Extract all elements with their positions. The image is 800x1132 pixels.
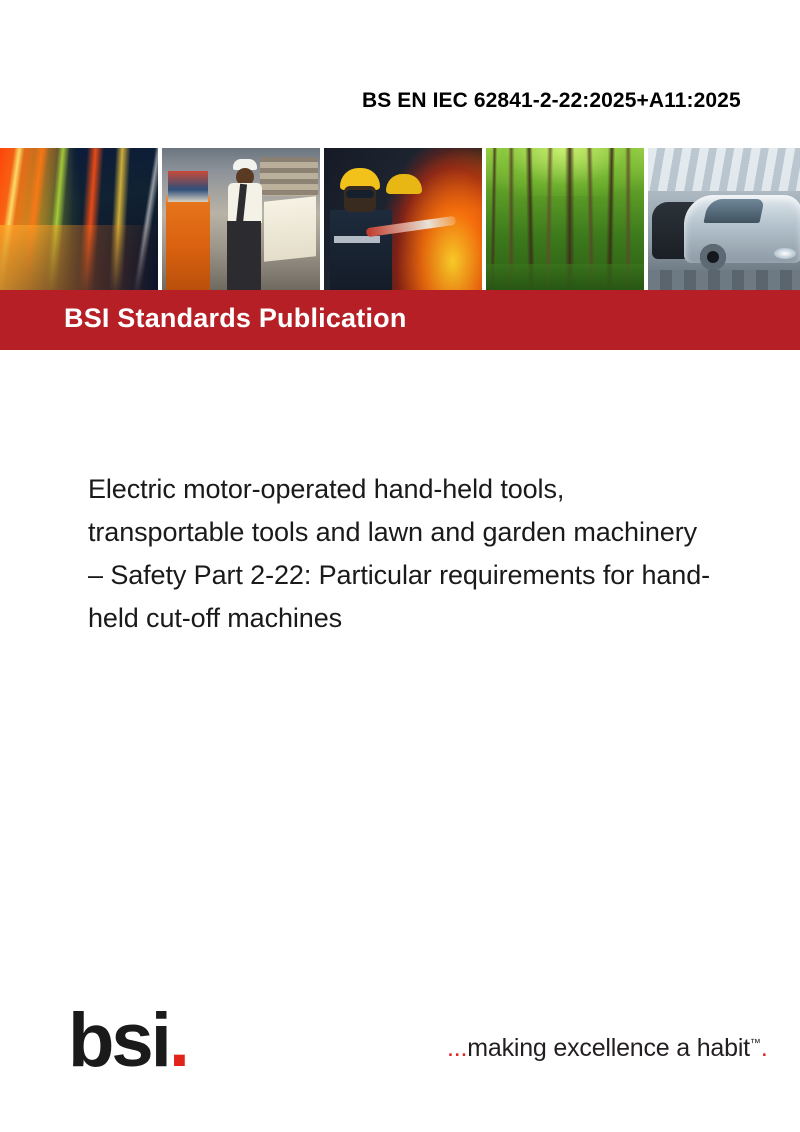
- tagline-ellipsis: ...: [447, 1034, 467, 1062]
- bsi-logo: bsi.: [68, 1003, 187, 1069]
- warehouse-worker-photo: [162, 148, 320, 290]
- document-title: Electric motor-operated hand-held tools,…: [88, 468, 712, 640]
- bsi-standards-publication-band: BSI Standards Publication: [0, 290, 800, 350]
- tagline-period: .: [761, 1034, 768, 1062]
- publication-band-label: BSI Standards Publication: [64, 305, 407, 332]
- forest-photo: [486, 148, 644, 290]
- night-light-trails-photo: [0, 148, 158, 290]
- car-production-line-photo: [648, 148, 800, 290]
- firefighters-photo: [324, 148, 482, 290]
- helmet-visor-shape: [346, 190, 374, 198]
- car-factory-illustration: [648, 148, 800, 290]
- factory-ceiling-shape: [648, 148, 800, 191]
- bsi-logo-text: bsi: [68, 998, 169, 1083]
- car-headlight-shape: [774, 248, 796, 259]
- stacked-boxes-shape: [168, 171, 208, 202]
- cover-photo-banner: [0, 148, 800, 290]
- bsi-logo-dot: .: [169, 998, 187, 1083]
- firefighters-illustration: [324, 148, 482, 290]
- trademark-icon: ™: [750, 1038, 761, 1050]
- standard-number-header: BS EN IEC 62841-2-22:2025+A11:2025: [362, 90, 800, 111]
- reflective-stripe-shape: [334, 236, 380, 243]
- car-windshield-shape: [703, 199, 764, 223]
- orange-crate-shape: [166, 196, 210, 290]
- car-wheel-shape: [700, 244, 726, 270]
- warehouse-illustration: [162, 148, 320, 290]
- carried-box-shape: [264, 196, 316, 261]
- forest-floor-shape: [486, 264, 644, 290]
- bsi-tagline: ...making excellence a habit™.: [447, 1036, 768, 1061]
- firefighter-jacket-shape: [330, 210, 392, 290]
- worker-figure-shape: [224, 159, 270, 290]
- forest-illustration: [486, 148, 644, 290]
- tagline-text: making excellence a habit: [467, 1034, 750, 1062]
- light-trails-illustration: [0, 148, 158, 290]
- factory-floor-shape: [648, 270, 800, 290]
